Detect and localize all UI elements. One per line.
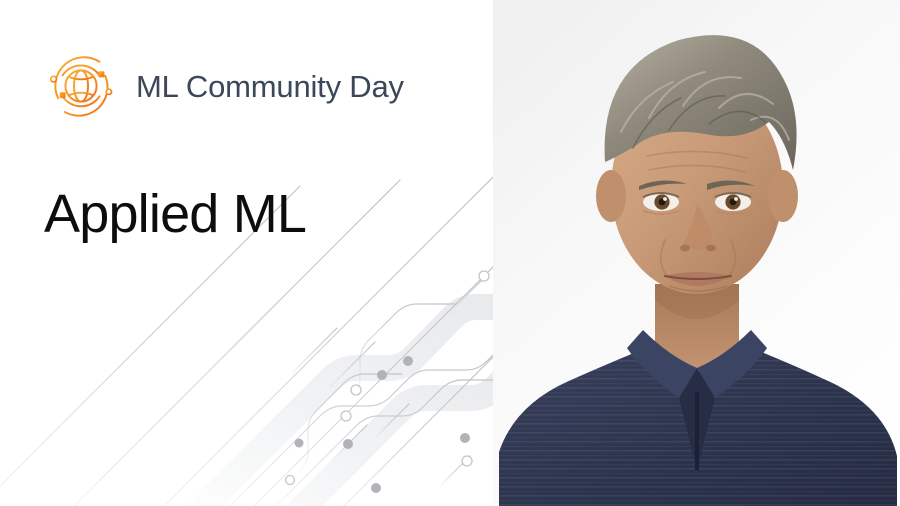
event-title-slide: ML Community Day Applied ML <box>0 0 900 506</box>
globe-orbit-network-icon <box>40 45 122 127</box>
brand-name: ML Community Day <box>136 71 404 102</box>
page-title: Applied ML <box>44 183 306 245</box>
brand-lockup: ML Community Day <box>40 45 404 127</box>
circuit-node-hollow <box>286 271 490 485</box>
speaker-portrait-illustration <box>493 0 900 506</box>
circuit-ribbon-band <box>180 307 493 506</box>
circuit-node-filled <box>295 356 471 493</box>
left-content-panel: ML Community Day Applied ML <box>0 0 493 506</box>
speaker-portrait-photo <box>493 0 900 506</box>
